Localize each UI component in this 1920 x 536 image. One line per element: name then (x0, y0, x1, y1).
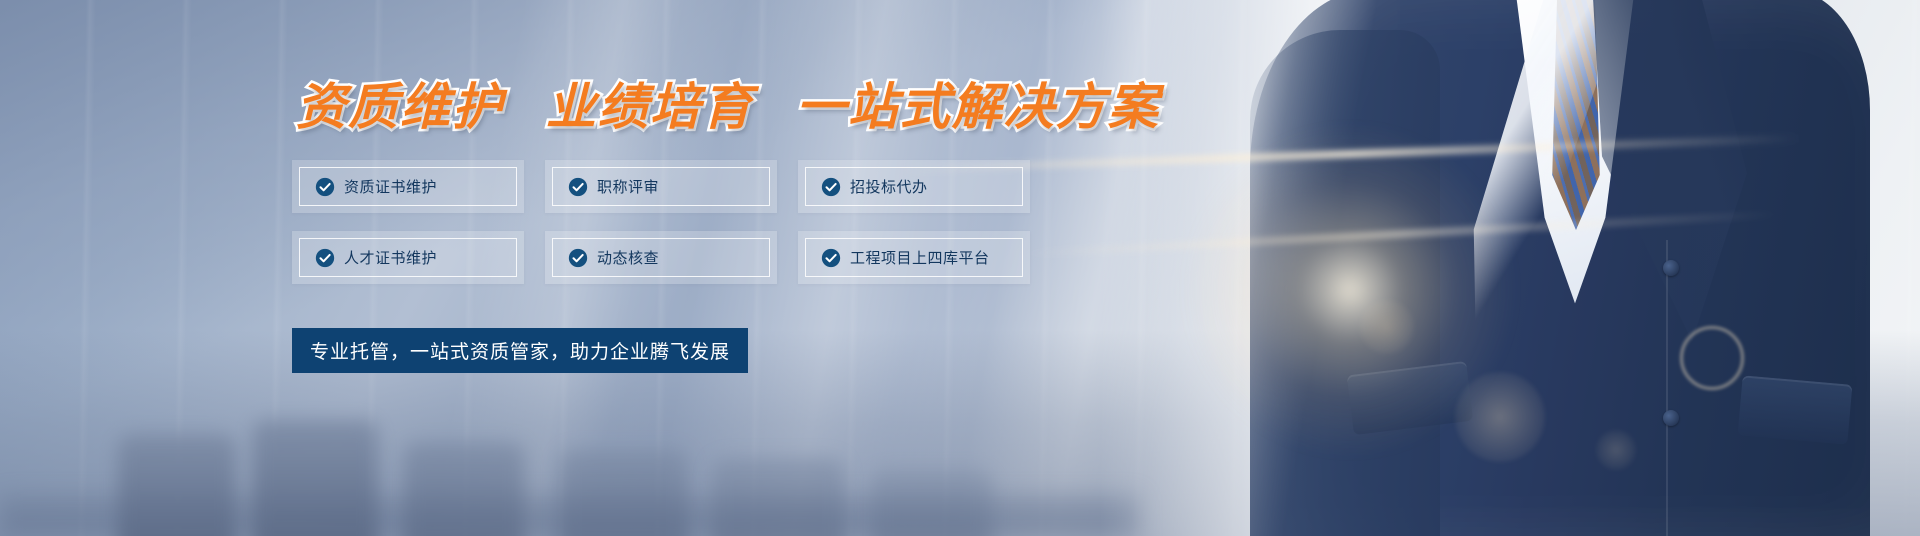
feature-card-qualification-certificate-maintenance[interactable]: 资质证书维护 (292, 160, 524, 213)
promo-banner: 资质维护 业绩培育 一站式解决方案 资质证书维护 (0, 0, 1920, 536)
feature-label: 职称评审 (597, 176, 659, 197)
feature-grid: 资质证书维护 职称评审 招投标代办 (292, 160, 1030, 284)
feature-card-inner: 资质证书维护 (299, 167, 517, 206)
check-circle-icon (568, 177, 588, 197)
feature-label: 招投标代办 (850, 176, 928, 197)
headline-segment-1: 资质维护 (296, 79, 504, 135)
feature-label: 工程项目上四库平台 (850, 247, 990, 268)
feature-card-inner: 人才证书维护 (299, 238, 517, 277)
check-circle-icon (315, 248, 335, 268)
headline-segment-2: 业绩培育 (546, 79, 754, 135)
check-circle-icon (315, 177, 335, 197)
feature-card-bidding-agency[interactable]: 招投标代办 (798, 160, 1030, 213)
feature-label: 资质证书维护 (344, 176, 437, 197)
feature-card-talent-certificate-maintenance[interactable]: 人才证书维护 (292, 231, 524, 284)
feature-card-inner: 工程项目上四库平台 (805, 238, 1023, 277)
feature-label: 人才证书维护 (344, 247, 437, 268)
feature-label: 动态核查 (597, 247, 659, 268)
check-circle-icon (821, 248, 841, 268)
tagline-text: 专业托管，一站式资质管家，助力企业腾飞发展 (310, 337, 730, 364)
feature-card-inner: 招投标代办 (805, 167, 1023, 206)
check-circle-icon (568, 248, 588, 268)
banner-content: 资质维护 业绩培育 一站式解决方案 资质证书维护 (0, 0, 1920, 536)
feature-card-title-evaluation[interactable]: 职称评审 (545, 160, 777, 213)
feature-card-dynamic-verification[interactable]: 动态核查 (545, 231, 777, 284)
check-circle-icon (821, 177, 841, 197)
banner-headline: 资质维护 业绩培育 一站式解决方案 (296, 78, 1160, 136)
feature-card-inner: 职称评审 (552, 167, 770, 206)
feature-card-inner: 动态核查 (552, 238, 770, 277)
headline-segment-3: 一站式解决方案 (796, 79, 1160, 135)
feature-card-project-four-database-platform[interactable]: 工程项目上四库平台 (798, 231, 1030, 284)
tagline-bar: 专业托管，一站式资质管家，助力企业腾飞发展 (292, 328, 748, 373)
